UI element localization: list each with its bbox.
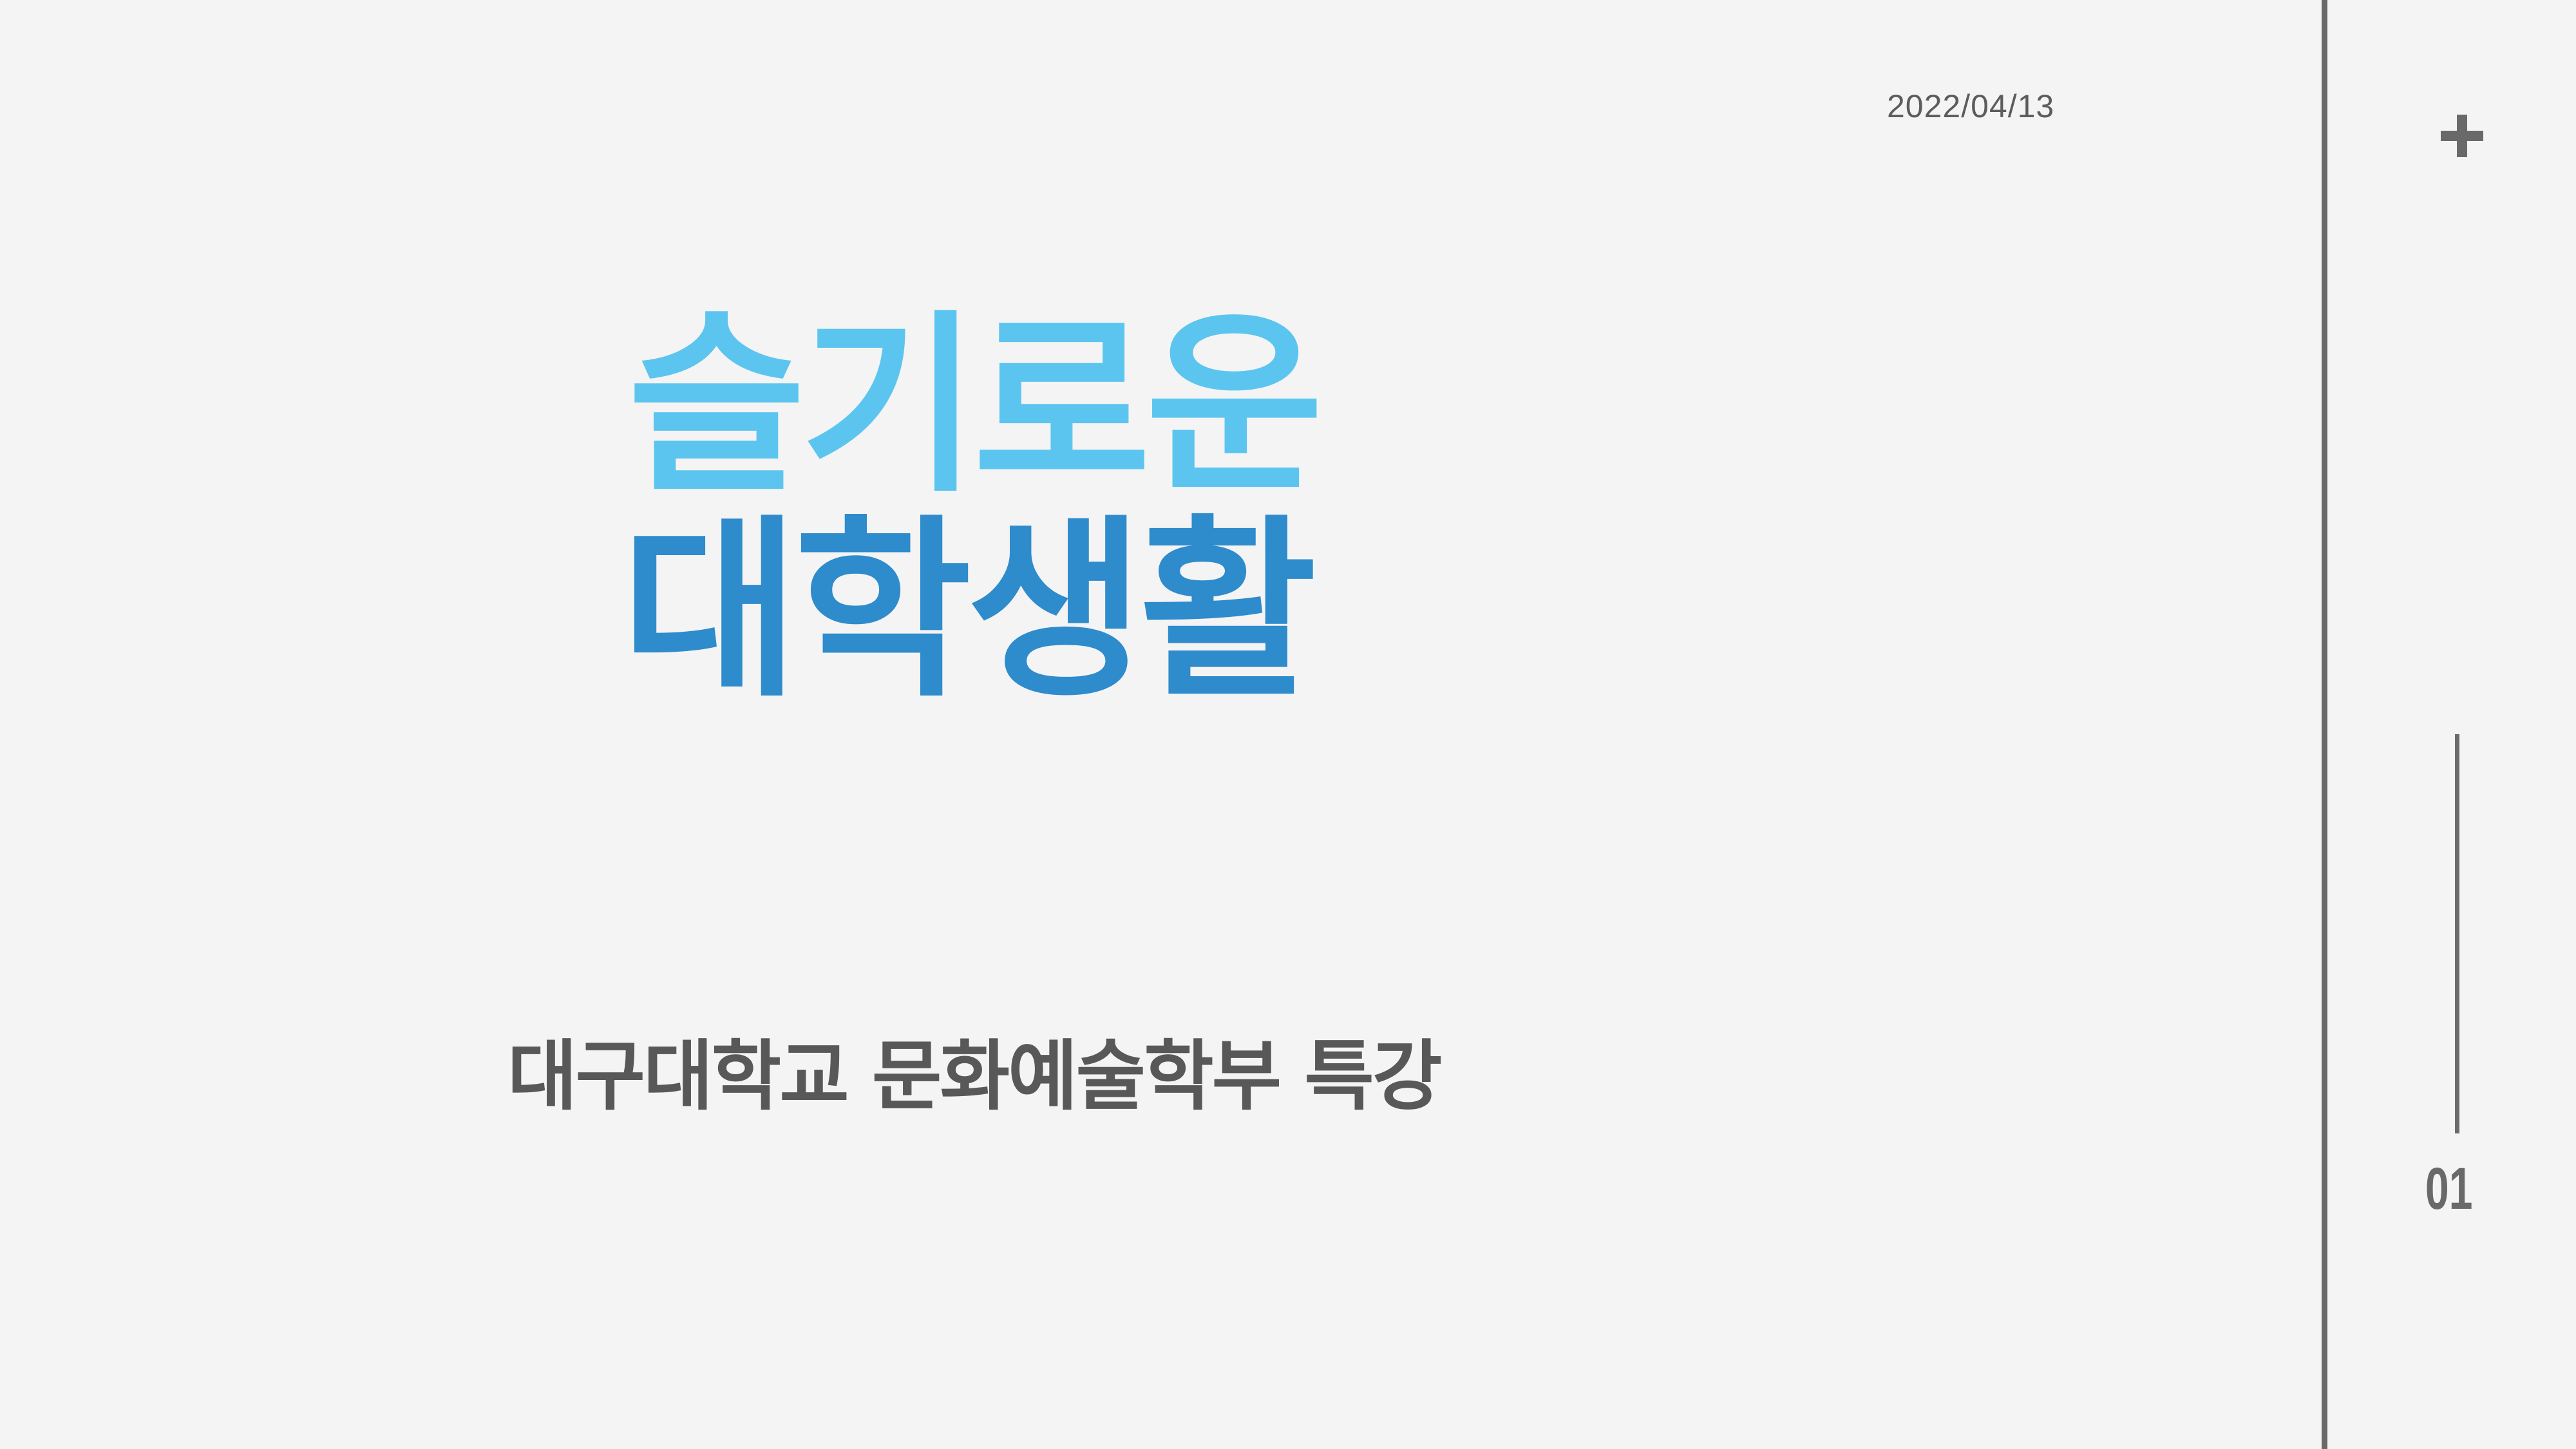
title-line-primary: 슬기로운 — [628, 316, 1658, 497]
presentation-slide: 2022/04/13 슬기로운 대학생활 대구대학교 문화예술학부 특강 01 — [0, 0, 2576, 1449]
title-line-secondary: 대학생활 — [621, 520, 1658, 702]
plus-icon — [2441, 115, 2483, 157]
rail-tick-line — [2455, 734, 2459, 1133]
slide-date: 2022/04/13 — [1887, 90, 2054, 122]
right-rail: 01 — [2327, 0, 2576, 1449]
title-block: 슬기로운 대학생활 — [628, 316, 1658, 702]
rail-divider-line — [2322, 0, 2327, 1449]
slide-number: 01 — [2362, 1159, 2541, 1218]
slide-subtitle: 대구대학교 문화예술학부 특강 — [507, 1038, 1440, 1114]
